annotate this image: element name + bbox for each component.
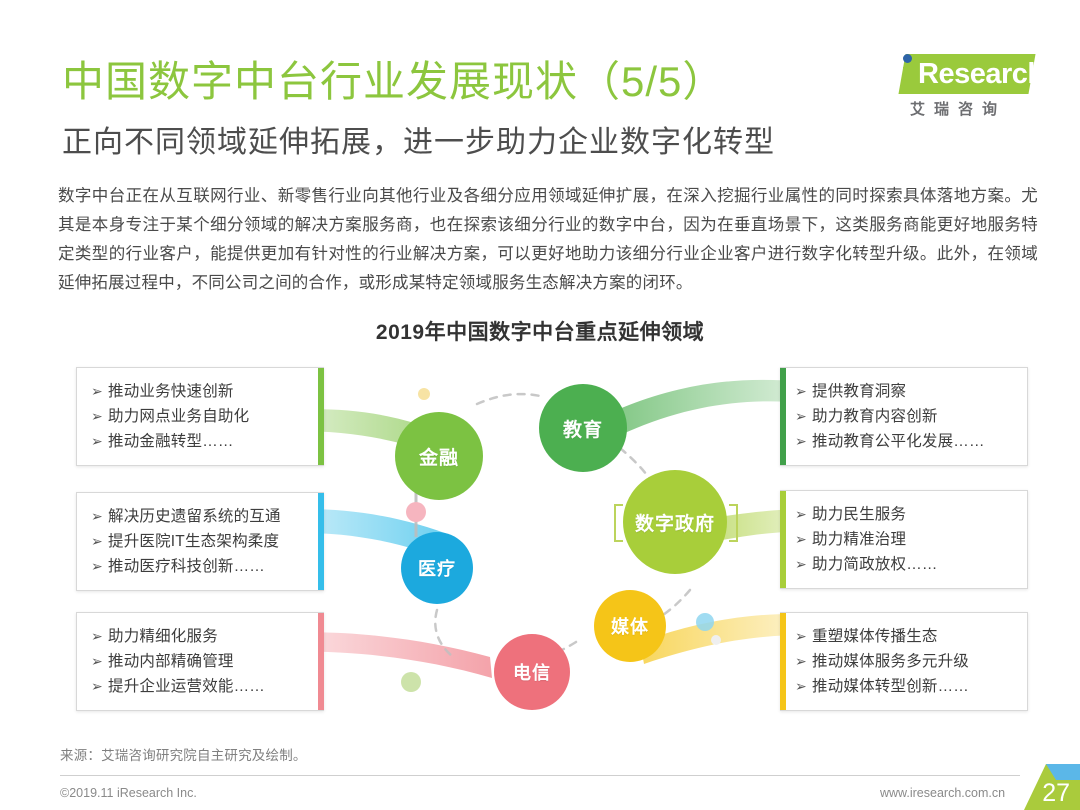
logo-mark: Research [884,50,1032,96]
list-item: ➢推动医疗科技创新…… [91,554,313,579]
infobox-media-list: ➢重塑媒体传播生态 ➢推动媒体服务多元升级 ➢推动媒体转型创新…… [795,624,1017,699]
item-text: 推动业务快速创新 [108,383,234,400]
bullet-icon: ➢ [91,674,108,699]
bullet-icon: ➢ [91,624,108,649]
list-item: ➢提升企业运营效能…… [91,674,313,699]
item-text: 助力精细化服务 [108,628,218,645]
accent-bar-medical [318,493,324,590]
bullet-icon: ➢ [795,649,812,674]
body-paragraph: 数字中台正在从互联网行业、新零售行业向其他行业及各细分应用领域延伸扩展，在深入挖… [58,182,1038,298]
logo-chinese-name: 艾瑞咨询 [884,98,1032,119]
item-text: 提升企业运营效能…… [108,678,265,695]
infobox-media: ➢重塑媒体传播生态 ➢推动媒体服务多元升级 ➢推动媒体转型创新…… [780,612,1028,711]
infobox-medical: ➢解决历史遗留系统的互通 ➢提升医院IT生态架构柔度 ➢推动医疗科技创新…… [76,492,324,591]
list-item: ➢助力精准治理 [795,527,1017,552]
bullet-icon: ➢ [91,554,108,579]
list-item: ➢推动媒体服务多元升级 [795,649,1017,674]
page-number: 27 [1042,779,1070,808]
bullet-icon: ➢ [795,429,812,454]
item-text: 助力简政放权…… [812,556,938,573]
item-text: 推动医疗科技创新…… [108,558,265,575]
bullet-icon: ➢ [795,404,812,429]
item-text: 推动内部精确管理 [108,653,234,670]
infobox-education: ➢提供教育洞察 ➢助力教育内容创新 ➢推动教育公平化发展…… [780,367,1028,466]
infobox-finance: ➢推动业务快速创新 ➢助力网点业务自助化 ➢推动金融转型…… [76,367,324,466]
infobox-education-list: ➢提供教育洞察 ➢助力教育内容创新 ➢推动教育公平化发展…… [795,379,1017,454]
item-text: 助力网点业务自助化 [108,408,249,425]
node-telecom[interactable]: 电信 [494,634,570,710]
bracket-right [729,504,738,542]
item-text: 解决历史遗留系统的互通 [108,508,281,525]
diagram-container: 金融 教育 数字政府 媒体 电信 医疗 ➢推动业务快速创新 ➢助力网点业务自助化… [0,352,1080,730]
bullet-icon: ➢ [795,527,812,552]
logo-wordmark: Research [918,57,1045,91]
bullet-icon: ➢ [795,379,812,404]
infobox-government: ➢助力民生服务 ➢助力精准治理 ➢助力简政放权…… [780,490,1028,589]
node-medical[interactable]: 医疗 [401,532,473,604]
item-text: 推动媒体转型创新…… [812,678,969,695]
infobox-finance-list: ➢推动业务快速创新 ➢助力网点业务自助化 ➢推动金融转型…… [91,379,313,454]
bullet-icon: ➢ [795,624,812,649]
bullet-icon: ➢ [91,429,108,454]
accent-bar-education [780,368,786,465]
list-item: ➢推动金融转型…… [91,429,313,454]
list-item: ➢推动业务快速创新 [91,379,313,404]
node-media-label: 媒体 [611,613,649,639]
node-education-label: 教育 [563,415,603,442]
bullet-icon: ➢ [91,649,108,674]
bracket-left [614,504,623,542]
source-note: 来源：艾瑞咨询研究院自主研究及绘制。 [60,744,307,764]
bullet-icon: ➢ [91,529,108,554]
bullet-icon: ➢ [91,504,108,529]
item-text: 推动媒体服务多元升级 [812,653,969,670]
node-telecom-label: 电信 [513,659,551,685]
page-subtitle: 正向不同领域延伸拓展，进一步助力企业数字化转型 [62,124,775,162]
item-text: 提升医院IT生态架构柔度 [108,533,279,550]
item-text: 推动教育公平化发展…… [812,433,985,450]
copyright-text: ©2019.11 iResearch Inc. [60,786,197,800]
accent-bar-government [780,491,786,588]
list-item: ➢助力精细化服务 [91,624,313,649]
accent-bar-telecom [318,613,324,710]
node-government[interactable]: 数字政府 [623,470,727,574]
website-url: www.iresearch.com.cn [880,786,1005,800]
bullet-icon: ➢ [795,674,812,699]
bullet-icon: ➢ [795,552,812,577]
list-item: ➢推动媒体转型创新…… [795,674,1017,699]
bullet-icon: ➢ [91,379,108,404]
list-item: ➢助力教育内容创新 [795,404,1017,429]
iresearch-logo: Research 艾瑞咨询 [876,50,1036,128]
node-media[interactable]: 媒体 [594,590,666,662]
list-item: ➢助力民生服务 [795,502,1017,527]
list-item: ➢助力简政放权…… [795,552,1017,577]
logo-i-dot [903,54,912,63]
list-item: ➢提升医院IT生态架构柔度 [91,529,313,554]
list-item: ➢推动内部精确管理 [91,649,313,674]
list-item: ➢提供教育洞察 [795,379,1017,404]
bullet-icon: ➢ [795,502,812,527]
infobox-telecom-list: ➢助力精细化服务 ➢推动内部精确管理 ➢提升企业运营效能…… [91,624,313,699]
infobox-government-list: ➢助力民生服务 ➢助力精准治理 ➢助力简政放权…… [795,502,1017,577]
node-education[interactable]: 教育 [539,384,627,472]
footer-divider [60,775,1020,776]
accent-bar-media [780,613,786,710]
logo-i-stem [903,67,912,94]
infobox-telecom: ➢助力精细化服务 ➢推动内部精确管理 ➢提升企业运营效能…… [76,612,324,711]
infobox-medical-list: ➢解决历史遗留系统的互通 ➢提升医院IT生态架构柔度 ➢推动医疗科技创新…… [91,504,313,579]
item-text: 助力教育内容创新 [812,408,938,425]
chart-title: 2019年中国数字中台重点延伸领域 [0,316,1080,346]
list-item: ➢解决历史遗留系统的互通 [91,504,313,529]
page-title: 中国数字中台行业发展现状（5/5） [62,56,725,108]
list-item: ➢推动教育公平化发展…… [795,429,1017,454]
item-text: 助力精准治理 [812,531,906,548]
list-item: ➢助力网点业务自助化 [91,404,313,429]
bullet-icon: ➢ [91,404,108,429]
page-header: 中国数字中台行业发展现状（5/5） 正向不同领域延伸拓展，进一步助力企业数字化转… [0,0,1080,175]
node-finance-label: 金融 [419,443,459,470]
node-government-label: 数字政府 [635,509,715,536]
node-medical-label: 医疗 [418,555,456,581]
node-finance[interactable]: 金融 [395,412,483,500]
item-text: 推动金融转型…… [108,433,234,450]
item-text: 提供教育洞察 [812,383,906,400]
item-text: 重塑媒体传播生态 [812,628,938,645]
item-text: 助力民生服务 [812,506,906,523]
list-item: ➢重塑媒体传播生态 [795,624,1017,649]
accent-bar-finance [318,368,324,465]
